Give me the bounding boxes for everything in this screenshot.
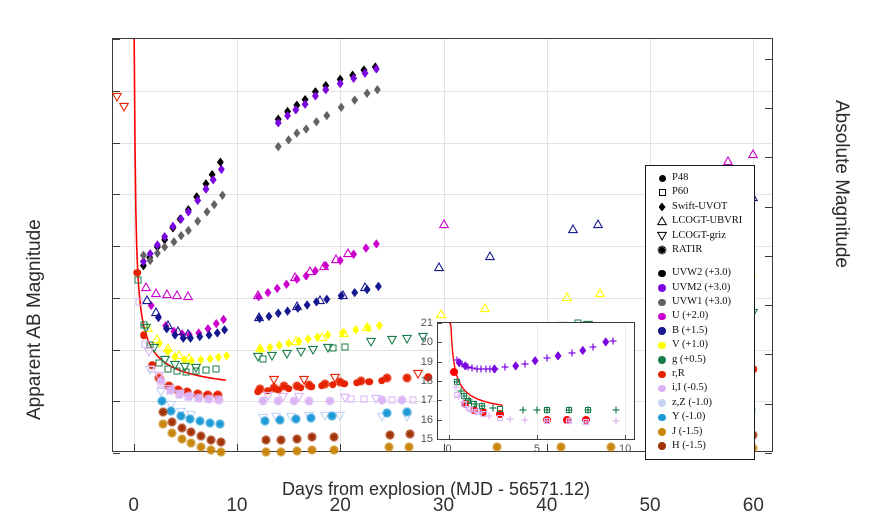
legend-label: H (-1.5) bbox=[672, 441, 706, 452]
legend-label: UVM2 (+3.0) bbox=[672, 283, 730, 294]
legend-item-instrument-1[interactable]: P60 bbox=[652, 185, 748, 199]
band-color-dot-icon bbox=[652, 385, 672, 393]
inset-y-tick-label: 18 bbox=[407, 375, 433, 387]
inset-x-tick-label: 10 bbox=[619, 443, 631, 455]
band-color-dot-icon bbox=[652, 284, 672, 292]
band-color-dot-icon bbox=[652, 428, 672, 436]
legend-label: r,R bbox=[672, 369, 685, 380]
legend-label: P48 bbox=[672, 173, 688, 184]
legend-item-instrument-5[interactable]: RATIR bbox=[652, 243, 748, 257]
open-triangle-up-icon bbox=[652, 216, 672, 226]
legend-item-band-4[interactable]: B (+1.5) bbox=[652, 324, 748, 338]
inset-y-tick-label: 20 bbox=[407, 336, 433, 348]
legend-item-band-5[interactable]: V (+1.0) bbox=[652, 338, 748, 352]
legend-item-instrument-4[interactable]: LCOGT-griz bbox=[652, 229, 748, 243]
inset-rise-fit-curve bbox=[438, 323, 634, 439]
band-color-dot-icon bbox=[652, 442, 672, 450]
inset-y-tick-label: 19 bbox=[407, 356, 433, 368]
inset-plot-area[interactable]: 151617181920210510 bbox=[437, 322, 635, 440]
legend-label: V (+1.0) bbox=[672, 340, 708, 351]
band-color-dot-icon bbox=[652, 371, 672, 379]
y-axis-left-title: Apparent AB Magnitude bbox=[24, 219, 46, 420]
legend-box[interactable]: P48P60Swift-UVOTLCOGT-UBVRILCOGT-grizRAT… bbox=[645, 165, 755, 460]
legend-item-band-8[interactable]: i,I (-0.5) bbox=[652, 381, 748, 395]
inset-x-tick-label: 0 bbox=[446, 443, 452, 455]
legend-item-band-11[interactable]: J (-1.5) bbox=[652, 425, 748, 439]
band-color-dot-icon bbox=[652, 414, 672, 422]
legend-label: B (+1.5) bbox=[672, 326, 708, 337]
band-color-dot-icon bbox=[652, 356, 672, 364]
y-tick-right bbox=[765, 453, 772, 454]
inset-y-tick bbox=[438, 439, 442, 440]
legend-label: UVW1 (+3.0) bbox=[672, 297, 731, 308]
legend-label: RATIR bbox=[672, 245, 702, 256]
inset-x-tick-label: 5 bbox=[534, 443, 540, 455]
asterisk-icon bbox=[652, 245, 672, 255]
legend-label: UVW2 (+3.0) bbox=[672, 268, 731, 279]
legend-item-instrument-3[interactable]: LCOGT-UBVRI bbox=[652, 214, 748, 228]
legend-label: P60 bbox=[672, 187, 688, 198]
legend-item-band-0[interactable]: UVW2 (+3.0) bbox=[652, 266, 748, 280]
figure-root: Apparent AB Magnitude Absolute Magnitude… bbox=[0, 0, 872, 514]
band-color-dot-icon bbox=[652, 342, 672, 350]
band-color-dot-icon bbox=[652, 399, 672, 407]
legend-item-band-6[interactable]: g (+0.5) bbox=[652, 353, 748, 367]
legend-item-instrument-2[interactable]: Swift-UVOT bbox=[652, 200, 748, 214]
legend-label: LCOGT-UBVRI bbox=[672, 216, 742, 227]
legend-label: g (+0.5) bbox=[672, 355, 706, 366]
legend-label: J (-1.5) bbox=[672, 427, 702, 438]
band-color-dot-icon bbox=[652, 327, 672, 335]
legend-label: i,I (-0.5) bbox=[672, 383, 707, 394]
filled-circle-icon bbox=[652, 175, 672, 182]
legend-label: Y (-1.0) bbox=[672, 412, 705, 423]
band-color-dot-icon bbox=[652, 313, 672, 321]
legend-item-band-1[interactable]: UVM2 (+3.0) bbox=[652, 281, 748, 295]
legend-item-band-3[interactable]: U (+2.0) bbox=[652, 310, 748, 324]
legend-item-band-7[interactable]: r,R bbox=[652, 367, 748, 381]
y-axis-right-title: Absolute Magnitude bbox=[830, 100, 852, 268]
inset-y-tick-label: 16 bbox=[407, 414, 433, 426]
y-tick-left bbox=[113, 453, 120, 454]
legend-item-band-9[interactable]: z,Z (-1.0) bbox=[652, 396, 748, 410]
legend-item-band-12[interactable]: H (-1.5) bbox=[652, 439, 748, 453]
band-color-dot-icon bbox=[652, 270, 672, 278]
legend-item-band-10[interactable]: Y (-1.0) bbox=[652, 410, 748, 424]
inset-y-tick-label: 21 bbox=[407, 317, 433, 329]
filled-diamond-icon bbox=[652, 202, 672, 211]
legend-item-band-2[interactable]: UVW1 (+3.0) bbox=[652, 295, 748, 309]
inset-y-tick-label: 17 bbox=[407, 394, 433, 406]
legend-label: LCOGT-griz bbox=[672, 231, 726, 242]
legend-label: U (+2.0) bbox=[672, 311, 708, 322]
legend-label: Swift-UVOT bbox=[672, 202, 727, 213]
open-square-icon bbox=[652, 189, 672, 196]
legend-separator bbox=[652, 257, 748, 266]
band-color-dot-icon bbox=[652, 299, 672, 307]
legend-item-instrument-0[interactable]: P48 bbox=[652, 171, 748, 185]
legend-label: z,Z (-1.0) bbox=[672, 398, 712, 409]
open-triangle-down-icon bbox=[652, 231, 672, 241]
inset-y-tick-label: 15 bbox=[407, 433, 433, 445]
